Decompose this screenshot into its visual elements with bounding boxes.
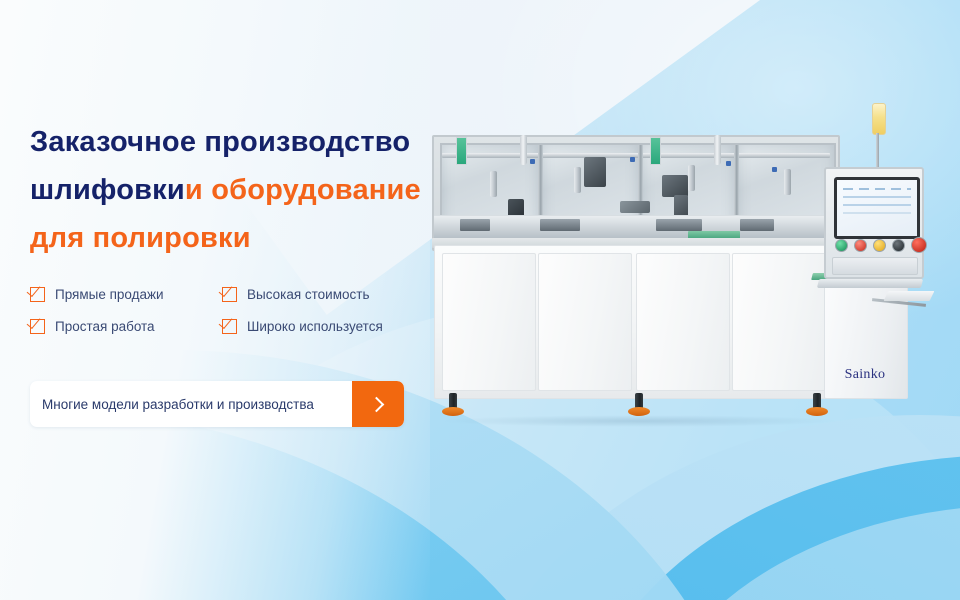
conveyor-component xyxy=(740,219,774,231)
pneumatic-cylinder xyxy=(574,167,581,193)
feature-list: Прямые продажи Высокая стоимость Простая… xyxy=(30,278,430,342)
checkbox-check-icon xyxy=(30,287,45,302)
blue-fitting xyxy=(630,157,635,162)
chevron-right-icon xyxy=(369,396,385,412)
adjustable-foot xyxy=(628,393,650,419)
cta-label: Многие модели разработки и производства xyxy=(30,397,352,412)
conveyor-component xyxy=(460,219,490,231)
feature-row: Прямые продажи Высокая стоимость xyxy=(30,278,430,310)
cabinet-door xyxy=(636,253,730,391)
keyboard-tray xyxy=(817,279,923,288)
door-handle xyxy=(520,135,527,165)
headline-line-2-navy: шлифовки xyxy=(30,174,185,206)
cta-bar[interactable]: Многие модели разработки и производства xyxy=(30,381,404,427)
checkbox-check-icon xyxy=(30,319,45,334)
conveyor-component xyxy=(656,219,702,231)
hero-copy: Заказочное производство шлифовкии оборуд… xyxy=(30,118,450,262)
headline-line-3: для полировки xyxy=(30,214,450,262)
blue-fitting xyxy=(530,159,535,164)
cta-submit-button[interactable] xyxy=(352,381,404,427)
stop-button-icon xyxy=(854,239,867,252)
feature-item-high-value: Высокая стоимость xyxy=(222,278,422,310)
headline-line-2-orange: и оборудование xyxy=(185,174,421,206)
feature-item-direct-sales: Прямые продажи xyxy=(30,278,222,310)
page-title: Заказочное производство шлифовкии оборуд… xyxy=(30,118,450,262)
control-panel xyxy=(824,167,924,279)
internal-rail xyxy=(442,153,830,158)
internal-mechanism xyxy=(662,175,688,197)
internal-mechanism xyxy=(584,157,606,187)
headline-line-1: Заказочное производство xyxy=(30,118,450,166)
internal-mechanism xyxy=(620,201,650,213)
feature-label: Широко используется xyxy=(247,319,383,334)
signal-tower-light xyxy=(872,103,886,135)
blue-fitting xyxy=(772,167,777,172)
panel-lower-plate xyxy=(832,257,918,275)
mode-button-icon xyxy=(892,239,905,252)
hmi-touchscreen xyxy=(834,177,920,239)
door-indicator-window xyxy=(650,137,661,165)
checkbox-check-icon xyxy=(222,319,237,334)
feature-item-widely-used: Широко используется xyxy=(222,310,422,342)
product-brand-label: Sainko xyxy=(824,367,906,383)
emergency-stop-icon xyxy=(911,237,927,253)
feature-row: Простая работа Широко используется xyxy=(30,310,430,342)
pneumatic-cylinder xyxy=(490,171,497,197)
start-button-icon xyxy=(835,239,848,252)
feature-label: Простая работа xyxy=(55,319,155,334)
hero-banner: Заказочное производство шлифовкии оборуд… xyxy=(0,0,960,600)
door-indicator-window xyxy=(456,137,467,165)
checkbox-check-icon xyxy=(222,287,237,302)
cabinet-door xyxy=(538,253,632,391)
product-image: Sainko xyxy=(420,95,930,475)
feature-label: Прямые продажи xyxy=(55,287,164,302)
feature-item-simple-operation: Простая работа xyxy=(30,310,222,342)
feature-label: Высокая стоимость xyxy=(247,287,369,302)
conveyor-component xyxy=(540,219,580,231)
cabinet-door xyxy=(442,253,536,391)
pneumatic-cylinder xyxy=(688,165,695,191)
adjustable-foot xyxy=(442,393,464,419)
blue-fitting xyxy=(726,161,731,166)
door-handle xyxy=(714,135,721,165)
reset-button-icon xyxy=(873,239,886,252)
output-tray xyxy=(884,291,935,301)
control-button-group xyxy=(835,239,927,253)
pneumatic-cylinder xyxy=(784,169,791,195)
